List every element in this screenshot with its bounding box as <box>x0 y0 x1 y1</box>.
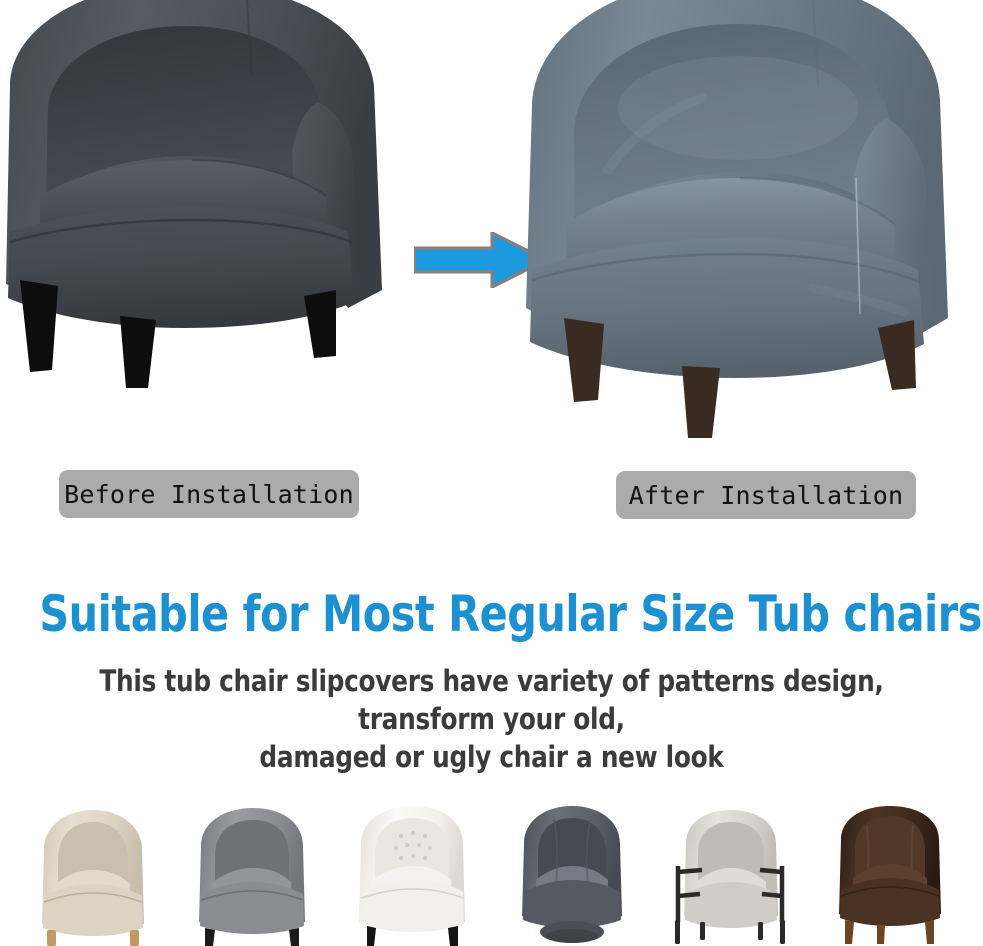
after-installation-text: After Installation <box>629 481 904 510</box>
before-installation-text: Before Installation <box>64 480 354 509</box>
chair-variant-strip <box>0 800 983 946</box>
subcopy-line-3: damaged or ugly chair a new look <box>25 738 959 776</box>
before-chair-image <box>0 0 406 400</box>
headline: Suitable for Most Regular Size Tub chair… <box>39 586 943 642</box>
chair-thumb-dark-grey-leather <box>500 804 642 946</box>
subcopy-line-2: transform your old, <box>25 700 959 738</box>
product-image-canvas: Before Installation After Installation S… <box>0 0 983 946</box>
before-after-comparison: Before Installation After Installation <box>0 0 983 455</box>
before-installation-label: Before Installation <box>59 470 359 518</box>
chair-thumb-light-grey-frame <box>660 804 802 946</box>
subcopy-line-1: This tub chair slipcovers have variety o… <box>25 662 959 700</box>
chair-thumb-beige-fabric <box>22 804 164 946</box>
subcopy: This tub chair slipcovers have variety o… <box>0 662 983 776</box>
after-installation-label: After Installation <box>616 471 916 519</box>
chair-thumb-white-tufted <box>341 804 483 946</box>
chair-thumb-grey-fabric <box>181 804 323 946</box>
after-chair-image <box>512 0 962 443</box>
chair-thumb-brown-leather <box>819 804 961 946</box>
